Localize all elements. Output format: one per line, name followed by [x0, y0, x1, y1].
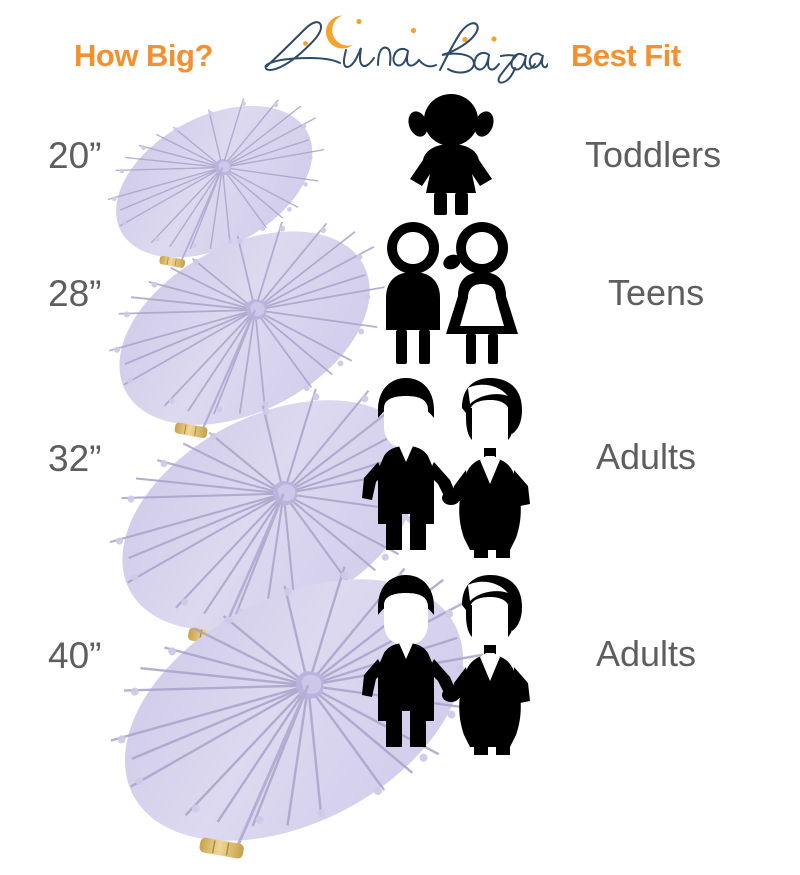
logo-dot: [411, 28, 416, 33]
how-big-heading: How Big?: [74, 38, 213, 74]
fit-label: Adults: [596, 436, 696, 478]
size-label: 32”: [48, 438, 101, 480]
size-row: 28”: [0, 210, 800, 370]
fit-label: Adults: [596, 633, 696, 675]
size-label: 40”: [48, 635, 101, 677]
size-row: 40”: [0, 545, 800, 800]
teen-couple-icon: [372, 218, 524, 366]
logo-dot: [462, 37, 467, 42]
logo-dot: [356, 19, 361, 24]
size-label: 20”: [48, 135, 101, 177]
size-label: 28”: [48, 273, 101, 315]
crescent-moon-icon: [326, 15, 353, 48]
infographic-canvas: How Big? Luna Bazaar: [0, 0, 800, 800]
luna-bazaar-logo: Luna Bazaar: [258, 8, 548, 86]
best-fit-heading: Best Fit: [571, 38, 681, 74]
size-row: 20”: [0, 88, 800, 216]
size-row: 32”: [0, 370, 800, 560]
toddler-girl-icon: [392, 94, 510, 212]
logo-script-lettering: [266, 22, 548, 82]
fit-label: Teens: [608, 272, 704, 314]
logo-dot: [303, 41, 308, 46]
adult-couple-icon: [358, 571, 538, 757]
fit-label: Toddlers: [585, 134, 721, 176]
adult-couple-icon: [358, 374, 538, 560]
logo-dot: [491, 36, 496, 41]
